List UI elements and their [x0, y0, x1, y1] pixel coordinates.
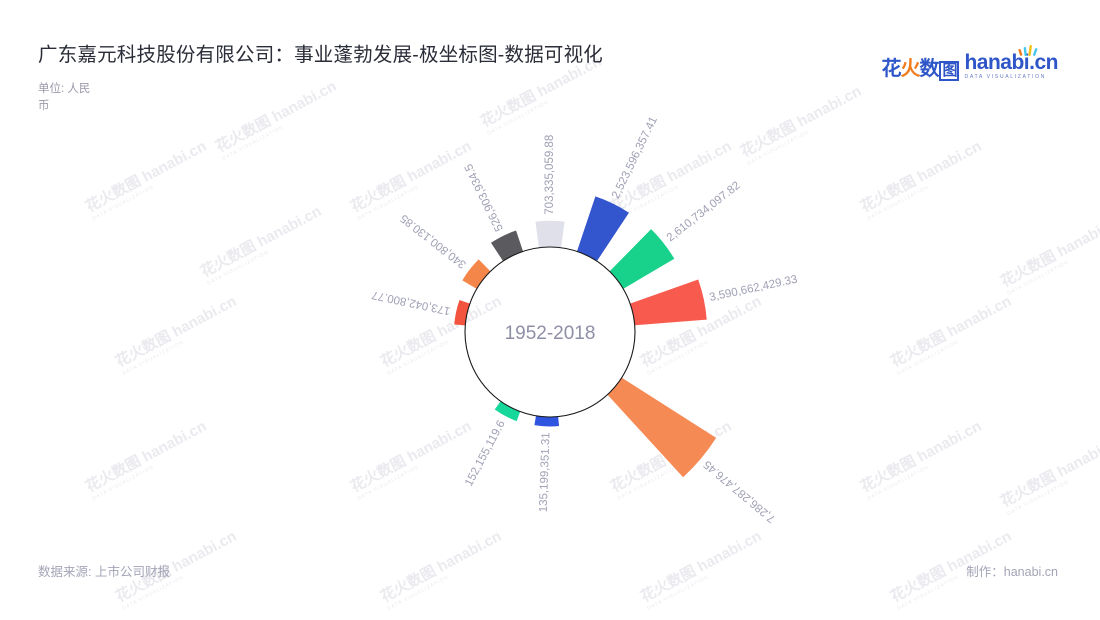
center-range-label: 1952-2018 — [505, 323, 596, 344]
brand-tagline: DATA VISUALIZATION — [964, 75, 1058, 80]
polar-bar-value-label: 340,800,130.85 — [398, 212, 468, 271]
brand-char-tu: 图 — [939, 61, 959, 81]
polar-bar-value-label: 3,590,662,429.33 — [708, 274, 798, 304]
sparkle-icon — [1017, 45, 1039, 56]
polar-bar-value-label: 526,903,934.5 — [463, 162, 506, 233]
brand-logo: 花 火 数 图 hanabi.cn DATA VISUALIZATION — [881, 52, 1058, 81]
brand-logo-latin: hanabi.cn DATA VISUALIZATION — [964, 52, 1058, 81]
chart-header: 广东嘉元科技股份有限公司：事业蓬勃发展-极坐标图-数据可视化 单位: 人民币 — [38, 38, 603, 114]
polar-bar-value-label: 135,199,351.31 — [538, 432, 553, 512]
footer-credit: 制作：hanabi.cn — [966, 561, 1058, 580]
footer-data-source: 数据来源: 上市公司财报 — [38, 561, 170, 580]
brand-latin-word: hanabi.cn — [964, 52, 1058, 73]
polar-bar-value-label: 173,042,800.77 — [371, 288, 452, 316]
polar-bar-value-label: 7,286,287,476.45 — [702, 458, 778, 525]
polar-bar-value-label: 2,523,596,357.41 — [610, 115, 660, 201]
polar-bar[interactable] — [577, 196, 629, 261]
page-title: 广东嘉元科技股份有限公司：事业蓬勃发展-极坐标图-数据可视化 — [38, 38, 603, 67]
polar-bar-value-label: 2,610,734,097.82 — [665, 180, 743, 245]
brand-char-hua: 花 — [881, 59, 900, 79]
brand-logo-chinese: 花 火 数 图 — [881, 59, 959, 81]
polar-bar-value-label: 703,335,059.88 — [544, 135, 556, 215]
brand-char-huo: 火 — [900, 59, 919, 79]
polar-bar[interactable] — [491, 231, 523, 262]
polar-bar[interactable] — [610, 229, 675, 289]
polar-bar[interactable] — [607, 378, 716, 478]
polar-bar-value-label: 152,155,119.6 — [463, 419, 508, 489]
brand-char-shu: 数 — [919, 59, 938, 79]
chart-unit-subtitle: 单位: 人民币 — [38, 81, 98, 114]
polar-bar[interactable] — [535, 221, 564, 248]
polar-bar[interactable] — [630, 280, 707, 326]
polar-bar[interactable] — [495, 401, 520, 421]
polar-value-labels-group: 173,042,800.77340,800,130.85526,903,934.… — [371, 115, 799, 525]
